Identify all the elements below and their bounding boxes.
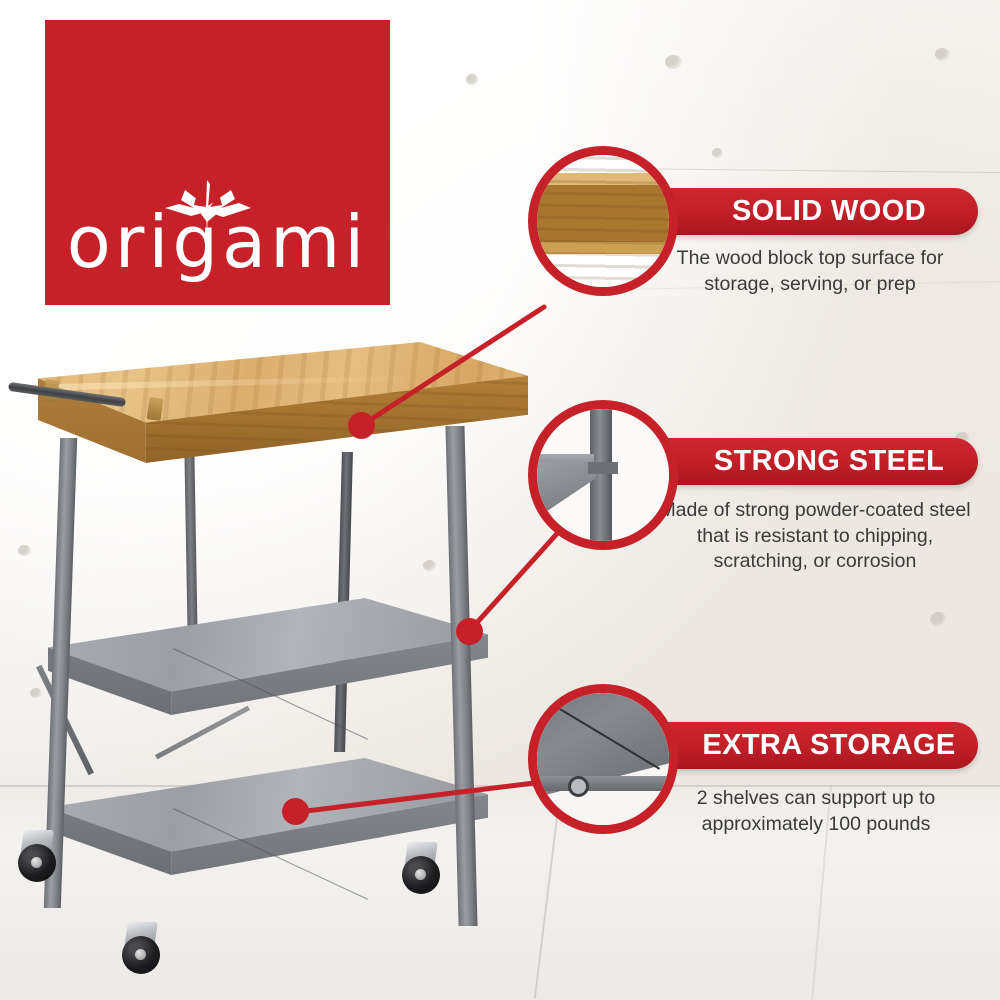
magnifier-steel-frame[interactable] [528, 400, 678, 550]
steel-frame-closeup-icon [528, 400, 678, 550]
wall-dimple [712, 148, 723, 158]
caster-hub [31, 857, 42, 868]
brand-wordmark: origami [45, 206, 390, 278]
feature-title: STRONG STEEL [644, 445, 944, 478]
wall-dimple [935, 48, 950, 61]
wall-dimple [665, 55, 682, 69]
feature-title: EXTRA STORAGE [632, 729, 955, 762]
brand-logo-block: origami [45, 20, 390, 305]
feature-description: Made of strong powder-coated steel that … [655, 498, 975, 575]
magnifier-shelf[interactable] [528, 684, 678, 834]
infographic-canvas: origami [0, 0, 1000, 1000]
feature-description: 2 shelves can support up to approximatel… [672, 786, 960, 837]
magnifier-wood-edge[interactable] [528, 146, 678, 296]
feature-description: The wood block top surface for storage, … [660, 246, 960, 297]
wood-edge-closeup-icon [528, 146, 678, 296]
caster-hub [135, 949, 146, 960]
product-image-cart [0, 330, 520, 1000]
shelf-closeup-icon [528, 684, 678, 834]
caster-hub [415, 869, 426, 880]
cart-shelf-middle [48, 598, 488, 728]
wall-dimple [930, 612, 947, 627]
feature-title: SOLID WOOD [662, 195, 926, 228]
wall-dimple [466, 74, 478, 85]
